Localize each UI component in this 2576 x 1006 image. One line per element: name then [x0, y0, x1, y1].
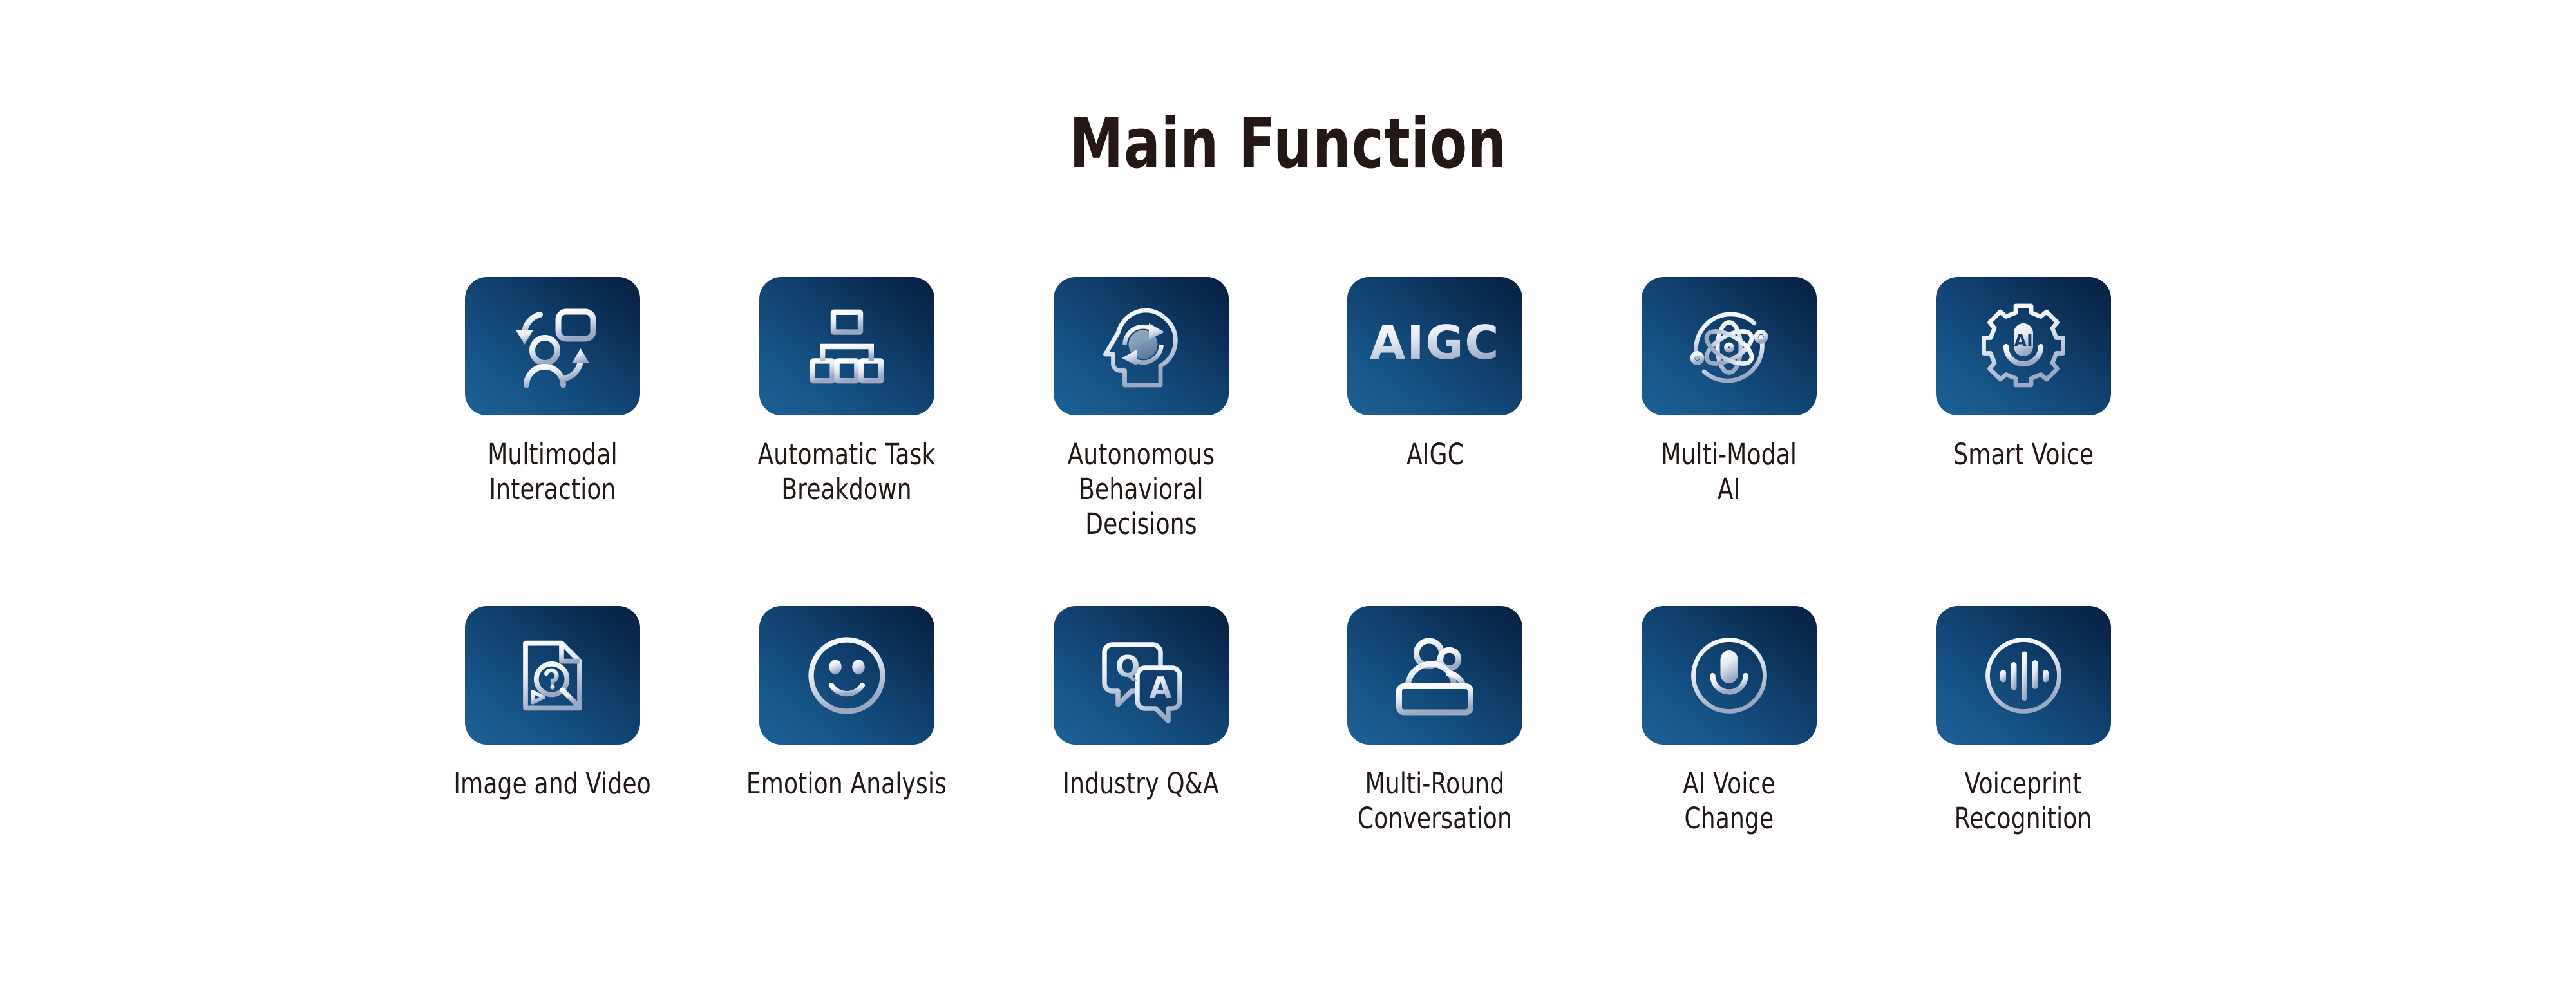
- multimodal-interaction-icon: [504, 298, 601, 395]
- aigc-wordmark-icon: AIGC: [1370, 318, 1499, 375]
- head-refresh-icon: [1093, 298, 1189, 395]
- feature-grid: MultimodalInteraction: [406, 277, 2170, 836]
- feature-label: Image and Video: [454, 766, 652, 801]
- feature-item-autonomous-behavioral-decisions[interactable]: AutonomousBehavioralDecisions: [994, 277, 1288, 542]
- feature-label: AI VoiceChange: [1683, 766, 1776, 836]
- feature-tile[interactable]: [465, 606, 640, 745]
- feature-label: MultimodalInteraction: [488, 437, 618, 507]
- feature-tile[interactable]: [465, 277, 640, 415]
- document-search-play-icon: [507, 631, 598, 721]
- speech-bubble-q-text: Q: [1115, 649, 1139, 683]
- speech-bubble-a-text: A: [1149, 670, 1171, 705]
- task-breakdown-hierarchy-icon: [802, 301, 892, 392]
- feature-tile[interactable]: [1347, 606, 1522, 745]
- feature-row-1: MultimodalInteraction: [406, 277, 2170, 542]
- feature-label: VoiceprintRecognition: [1955, 766, 2092, 836]
- feature-item-emotion-analysis[interactable]: Emotion Analysis: [700, 606, 994, 801]
- atom-orbit-icon: [1681, 298, 1777, 395]
- feature-tile[interactable]: Q A: [1054, 606, 1229, 745]
- feature-item-image-and-video[interactable]: Image and Video: [406, 606, 699, 801]
- feature-label: Multi-RoundConversation: [1358, 766, 1512, 836]
- feature-item-voiceprint-recognition[interactable]: VoiceprintRecognition: [1877, 606, 2170, 836]
- aigc-wordmark-text: AIGC: [1370, 318, 1499, 370]
- feature-label: Smart Voice: [1953, 437, 2094, 472]
- feature-tile[interactable]: [1642, 277, 1817, 415]
- qa-speech-bubbles-icon: Q A: [1093, 627, 1189, 724]
- feature-label: Emotion Analysis: [746, 766, 947, 801]
- feature-label: AutonomousBehavioralDecisions: [1067, 437, 1215, 542]
- page-title: Main Function: [283, 109, 2293, 179]
- feature-tile[interactable]: [1936, 606, 2111, 745]
- people-panel-icon: [1387, 627, 1483, 724]
- gear-microphone-ai-icon: AI: [1975, 298, 2072, 395]
- feature-item-multimodal-interaction[interactable]: MultimodalInteraction: [406, 277, 699, 507]
- feature-row-2: Image and Video Emotion Analysis: [406, 606, 2170, 836]
- feature-tile[interactable]: [759, 277, 934, 415]
- feature-item-multi-round-conversation[interactable]: Multi-RoundConversation: [1288, 606, 1582, 836]
- feature-tile[interactable]: AIGC: [1347, 277, 1522, 415]
- feature-label: Automatic TaskBreakdown: [758, 437, 936, 507]
- feature-item-ai-voice-change[interactable]: AI VoiceChange: [1582, 606, 1876, 836]
- feature-item-industry-qa[interactable]: Q A Industry Q&A: [994, 606, 1288, 801]
- feature-item-automatic-task-breakdown[interactable]: Automatic TaskBreakdown: [700, 277, 994, 507]
- smiley-face-icon: [799, 627, 895, 724]
- feature-item-aigc[interactable]: AIGC AIGC: [1288, 277, 1582, 472]
- voice-waveform-circle-icon: [1975, 627, 2072, 724]
- microphone-circle-icon: [1681, 627, 1777, 724]
- feature-tile[interactable]: [1642, 606, 1817, 745]
- main-function-page: Main Function: [0, 0, 2576, 1006]
- feature-tile[interactable]: [759, 606, 934, 745]
- feature-item-multi-modal-ai[interactable]: Multi-ModalAI: [1582, 277, 1876, 507]
- feature-item-smart-voice[interactable]: AI Smart Voice: [1877, 277, 2170, 472]
- feature-tile[interactable]: AI: [1936, 277, 2111, 415]
- feature-tile[interactable]: [1054, 277, 1229, 415]
- feature-label: Industry Q&A: [1063, 766, 1218, 801]
- feature-label: AIGC: [1406, 437, 1464, 472]
- gear-mic-ai-text: AI: [2014, 332, 2032, 351]
- feature-label: Multi-ModalAI: [1662, 437, 1797, 507]
